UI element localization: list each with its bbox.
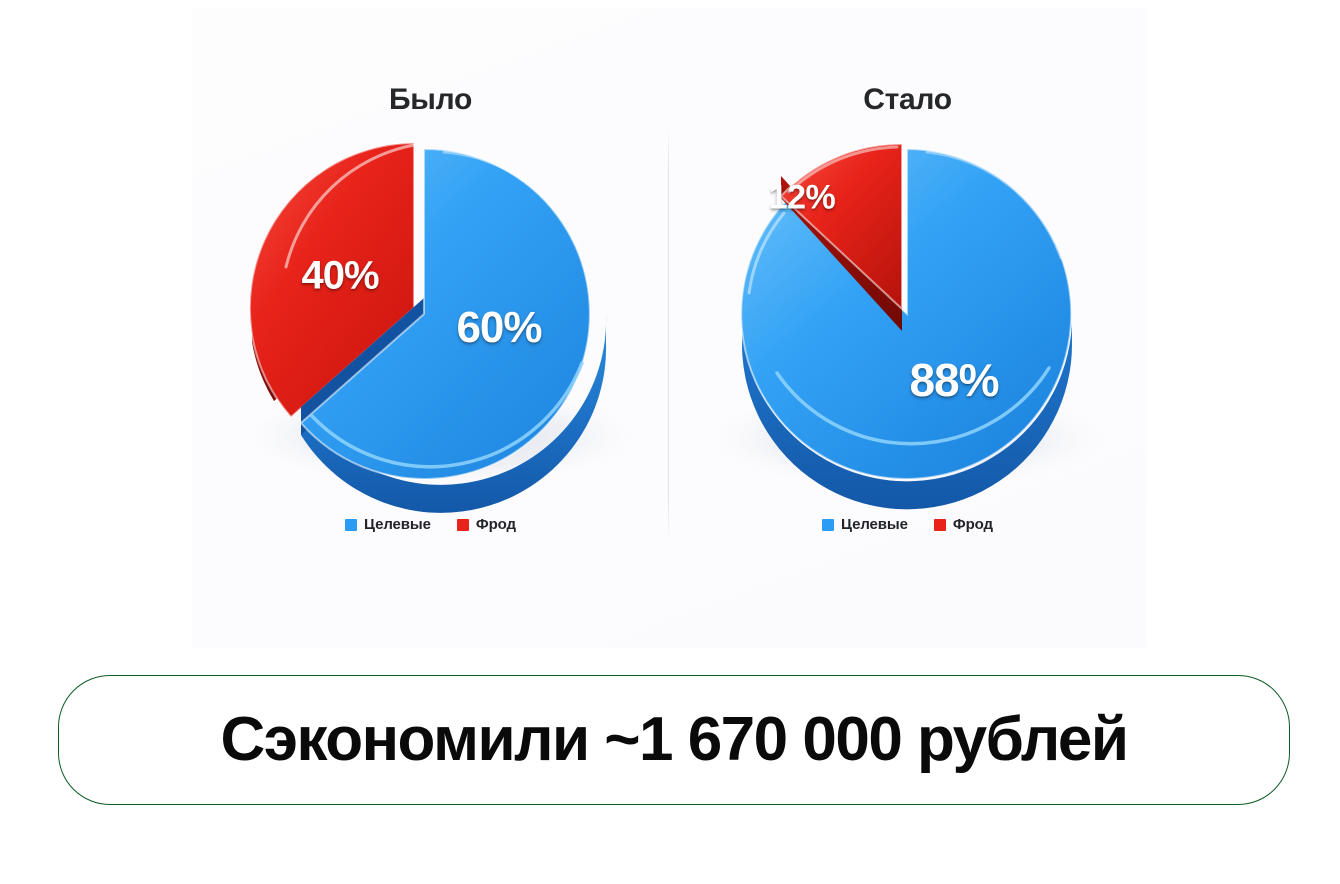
red-swatch-icon: [457, 519, 469, 531]
blue-swatch-icon: [822, 519, 834, 531]
pie-svg-after: [669, 118, 1146, 498]
legend-before: Целевые Фрод: [192, 516, 669, 533]
pie-value-label-target: 60%: [456, 303, 541, 353]
legend-after: Целевые Фрод: [669, 516, 1146, 533]
legend-label-target: Целевые: [841, 516, 908, 533]
chart-panel-after: Стало: [669, 8, 1146, 648]
chart-panel-before: Было: [192, 8, 669, 648]
charts-card: Было: [192, 8, 1146, 648]
pie-value-label-target: 88%: [909, 353, 998, 407]
red-swatch-icon: [934, 519, 946, 531]
legend-item-target[interactable]: Целевые: [345, 516, 431, 533]
legend-label-fraud: Фрод: [476, 516, 516, 533]
chart-title-after: Стало: [669, 83, 1146, 117]
pie-svg-before: [192, 118, 669, 498]
legend-label-fraud: Фрод: [953, 516, 993, 533]
pie-chart-before: 60% 40%: [192, 118, 669, 498]
legend-item-target[interactable]: Целевые: [822, 516, 908, 533]
chart-title-before: Было: [192, 83, 669, 117]
savings-text: Сэкономили ~1 670 000 рублей: [220, 709, 1127, 771]
savings-banner: Сэкономили ~1 670 000 рублей: [58, 675, 1290, 805]
legend-item-fraud[interactable]: Фрод: [457, 516, 516, 533]
legend-label-target: Целевые: [364, 516, 431, 533]
pie-value-label-fraud: 40%: [301, 254, 378, 299]
pie-value-label-fraud: 12%: [769, 179, 836, 218]
blue-swatch-icon: [345, 519, 357, 531]
pie-chart-after: 88% 12%: [669, 118, 1146, 498]
legend-item-fraud[interactable]: Фрод: [934, 516, 993, 533]
